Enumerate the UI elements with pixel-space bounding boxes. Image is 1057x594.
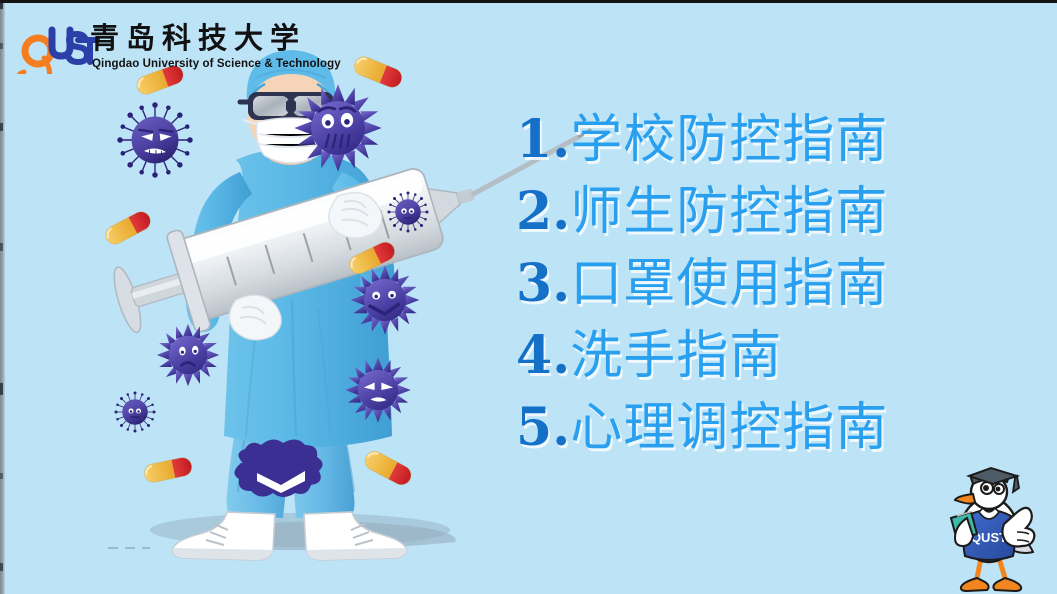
guide-item-label: 心理调控指南 xyxy=(570,398,888,458)
face-mask xyxy=(243,118,339,163)
floor-shadow xyxy=(150,513,450,547)
guide-item-number: 1. xyxy=(516,109,570,170)
guide-list-item-5: 5.心理调控指南 xyxy=(516,392,1016,464)
right-arm xyxy=(332,172,394,310)
virus-angry-upper-left xyxy=(117,102,192,177)
mascot-right-foot xyxy=(993,578,1021,591)
guide-list-item-1: 1.学校防控指南 xyxy=(516,104,1016,176)
logo-english-name: Qingdao University of Science & Technolo… xyxy=(92,58,341,70)
guide-item-label: 学校防控指南 xyxy=(570,110,888,170)
guide-list-item-3: 3.口罩使用指南 xyxy=(516,248,1016,320)
left-arm xyxy=(186,172,252,332)
university-logo: 青岛科技大学 Qingdao University of Science & T… xyxy=(16,18,276,84)
virus-small-right xyxy=(388,192,429,233)
guide-item-number: 4. xyxy=(516,325,570,386)
guide-item-number: 3. xyxy=(516,253,570,314)
virus-angry-lower-right xyxy=(345,357,411,423)
left-shoe xyxy=(173,512,275,560)
right-shoe xyxy=(304,512,406,560)
pill-capsule xyxy=(362,448,415,488)
slide-canvas: 青岛科技大学 Qingdao University of Science & T… xyxy=(0,0,1057,594)
guide-list-item-2: 2.师生防控指南 xyxy=(516,176,1016,248)
window-left-edge-marks xyxy=(0,3,3,594)
qust-seagull-mascot: QUST xyxy=(931,466,1051,594)
guide-item-label: 洗手指南 xyxy=(570,326,782,386)
pill-capsule xyxy=(143,456,194,484)
pill-capsule xyxy=(352,54,405,90)
pill-capsule xyxy=(346,239,397,277)
gloved-hands xyxy=(229,193,381,340)
mascot-cap-tassel xyxy=(1013,476,1019,492)
goggles xyxy=(240,92,342,120)
guide-item-number: 2. xyxy=(516,181,570,242)
window-top-edge xyxy=(0,0,1057,3)
virus-sad-left xyxy=(157,324,219,386)
virus-squished-bottom xyxy=(234,439,322,497)
mascot-beak xyxy=(955,494,975,504)
guide-item-label: 口罩使用指南 xyxy=(570,254,888,314)
virus-small-left xyxy=(115,392,156,433)
doctor-figure xyxy=(173,50,407,560)
surgical-gown xyxy=(224,149,392,447)
logo-chinese-name: 青岛科技大学 xyxy=(90,18,306,58)
virus-shocked-top xyxy=(294,84,381,171)
pill-capsule xyxy=(103,209,154,248)
syringe-barrel xyxy=(174,166,445,322)
virus-grumpy-right xyxy=(351,266,420,335)
guide-item-number: 5. xyxy=(516,397,570,458)
qust-logo-mark xyxy=(16,24,100,74)
guide-list-item-4: 4.洗手指南 xyxy=(516,320,1016,392)
guide-item-label: 师生防控指南 xyxy=(570,182,888,242)
guide-list: 1.学校防控指南 2.师生防控指南 3.口罩使用指南 4.洗手指南 5.心理调控… xyxy=(516,104,1016,464)
mascot-left-foot xyxy=(961,578,989,591)
